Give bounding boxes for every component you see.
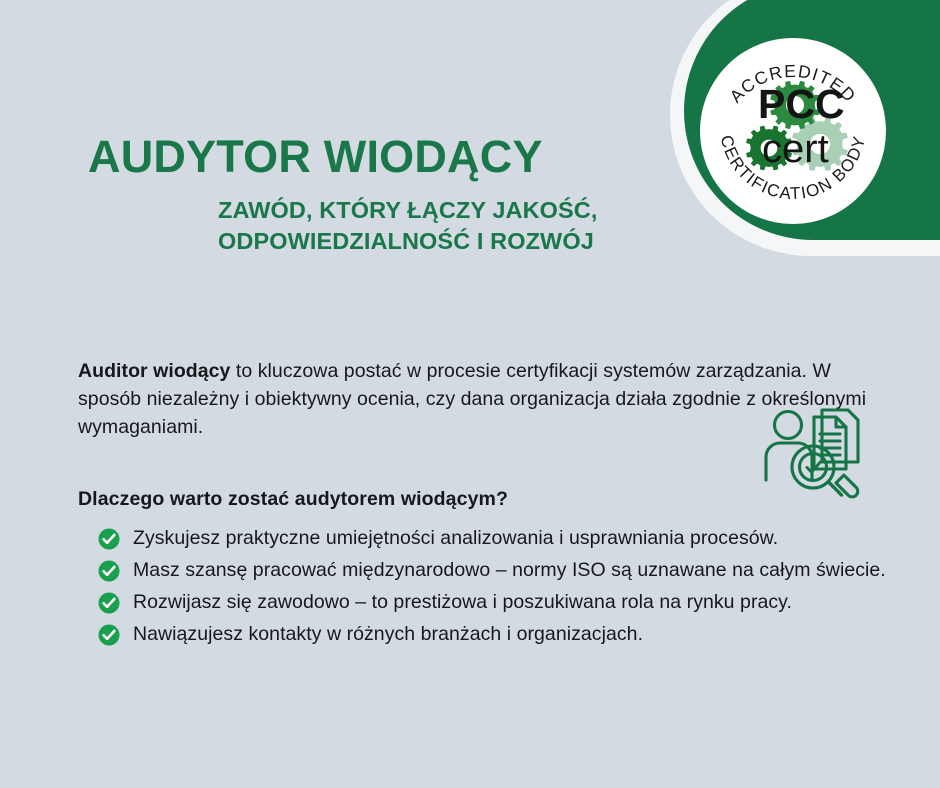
check-circle-icon bbox=[98, 592, 120, 614]
page-subtitle-line-1: ZAWÓD, KTÓRY ŁĄCZY JAKOŚĆ, bbox=[218, 195, 598, 226]
svg-text:ACCREDITED: ACCREDITED bbox=[726, 61, 861, 107]
list-item-label: Nawiązujesz kontakty w różnych branżach … bbox=[133, 623, 643, 645]
section-heading-why: Dlaczego warto zostać audytorem wiodącym… bbox=[78, 488, 508, 511]
benefits-list: Zyskujesz praktyczne umiejętności analiz… bbox=[98, 524, 918, 652]
accreditation-badge: ACCREDITED CERTIFICATION BODY bbox=[662, 0, 940, 262]
check-circle-icon bbox=[98, 560, 120, 582]
svg-text:CERTIFICATION BODY: CERTIFICATION BODY bbox=[717, 133, 870, 203]
check-circle-icon bbox=[98, 624, 120, 646]
lead-paragraph: Auditor wiodący to kluczowa postać w pro… bbox=[78, 357, 868, 441]
svg-text:PCC: PCC bbox=[758, 81, 845, 127]
list-item-label: Zyskujesz praktyczne umiejętności analiz… bbox=[133, 527, 778, 549]
page-title: AUDYTOR WIODĄCY bbox=[88, 134, 543, 179]
list-item: Zyskujesz praktyczne umiejętności analiz… bbox=[98, 524, 918, 552]
svg-text:cert: cert bbox=[762, 127, 829, 171]
check-circle-icon bbox=[98, 528, 120, 550]
list-item: Rozwijasz się zawodowo – to prestiżowa i… bbox=[98, 588, 918, 616]
pcc-cert-seal-icon: ACCREDITED CERTIFICATION BODY bbox=[700, 38, 886, 224]
badge-outer-ring bbox=[670, 0, 940, 256]
list-item: Nawiązujesz kontakty w różnych branżach … bbox=[98, 620, 918, 648]
page-subtitle: ZAWÓD, KTÓRY ŁĄCZY JAKOŚĆ, ODPOWIEDZIALN… bbox=[218, 195, 598, 258]
page-subtitle-line-2: ODPOWIEDZIALNOŚĆ I ROZWÓJ bbox=[218, 226, 598, 257]
list-item: Masz szansę pracować międzynarodowo – no… bbox=[98, 556, 918, 584]
lead-emphasis: Auditor wiodący bbox=[78, 360, 230, 382]
badge-green-panel bbox=[684, 0, 940, 240]
poster-canvas: ACCREDITED CERTIFICATION BODY bbox=[0, 0, 940, 788]
list-item-label: Masz szansę pracować międzynarodowo – no… bbox=[133, 559, 886, 581]
auditor-person-document-magnifier-check-icon bbox=[762, 404, 872, 499]
list-item-label: Rozwijasz się zawodowo – to prestiżowa i… bbox=[133, 591, 792, 613]
